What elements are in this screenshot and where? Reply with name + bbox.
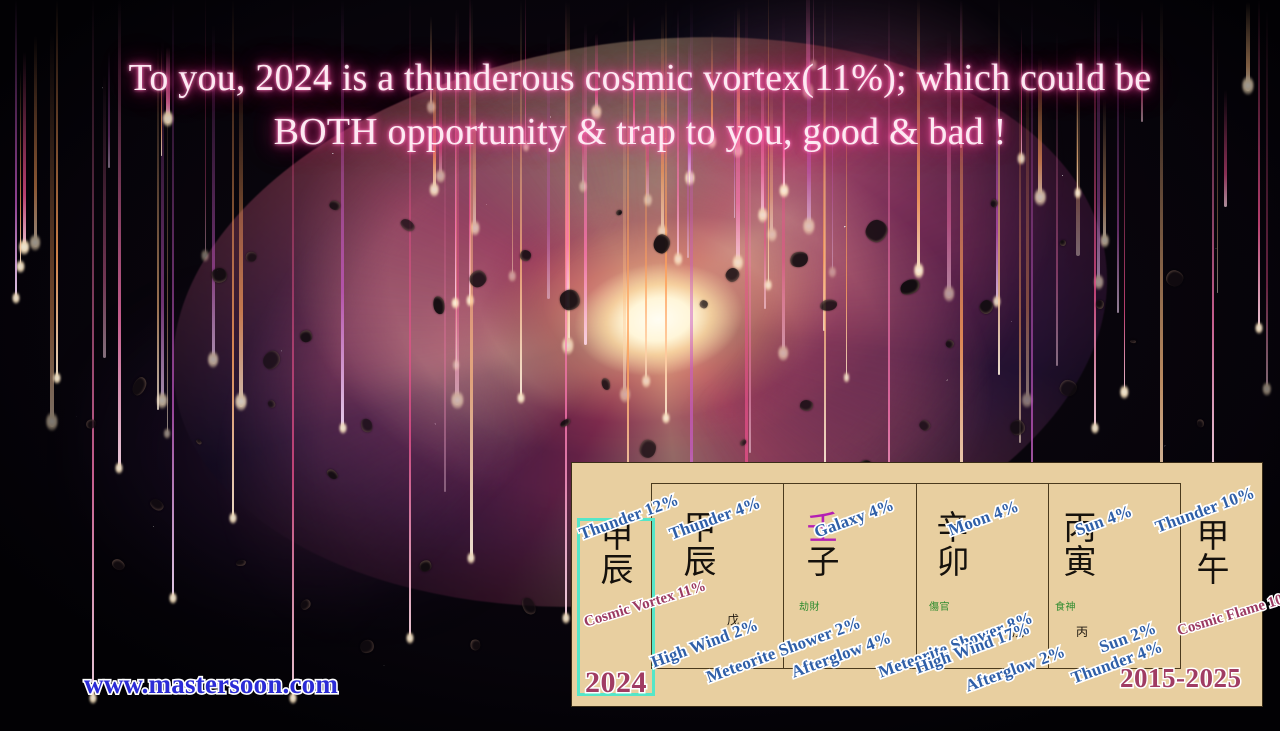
asteroid [1096, 300, 1105, 309]
asteroid [819, 299, 837, 312]
ten-god-4: 傷官 [929, 598, 950, 613]
asteroid [110, 557, 126, 572]
asteroid [519, 250, 531, 262]
earthly-branch: 辰 [664, 545, 736, 579]
asteroid [266, 399, 276, 409]
asteroid [918, 419, 933, 433]
poster-canvas: To you, 2024 is a thunderous cosmic vort… [0, 0, 1280, 731]
asteroid [600, 377, 611, 391]
highlight-year-label: 2024 [585, 666, 647, 700]
asteroid [788, 250, 809, 269]
asteroid [556, 286, 584, 314]
asteroid [559, 418, 571, 429]
asteroid [739, 438, 747, 446]
earthly-branch: 辰 [586, 553, 648, 587]
asteroid [299, 597, 313, 611]
asteroid [520, 595, 538, 616]
asteroid [469, 639, 481, 652]
website-watermark[interactable]: www.mastersoon.com [84, 669, 338, 700]
asteroid [130, 375, 150, 398]
asteroid [209, 265, 229, 285]
asteroid [1164, 268, 1185, 288]
asteroid [1060, 240, 1067, 247]
earthly-branch: 午 [1180, 553, 1246, 587]
asteroid [978, 298, 996, 316]
hidden-stem: 丙 [1076, 623, 1088, 640]
asteroid [360, 417, 374, 433]
asteroid [898, 277, 922, 298]
pillar-luck[interactable]: 甲 午 [1180, 519, 1246, 586]
asteroid [236, 559, 247, 566]
earthly-branch: 子 [787, 545, 859, 579]
asteroid [246, 252, 257, 262]
ten-god-3: 劫財 [799, 598, 820, 613]
asteroid [990, 199, 998, 208]
asteroid [863, 217, 890, 245]
asteroid [358, 638, 376, 655]
asteroid [639, 439, 657, 459]
asteroid [945, 339, 955, 349]
asteroid [1007, 417, 1028, 438]
bazi-chart-panel: 甲 辰 Cosmic Vortex 11% 2024 甲 辰 戊 壬 子 劫財 … [571, 462, 1263, 707]
asteroid [699, 299, 709, 308]
asteroid [398, 217, 416, 234]
asteroid [260, 348, 284, 373]
earthly-branch: 卯 [917, 545, 989, 579]
asteroid [466, 267, 489, 291]
asteroid [85, 419, 97, 430]
asteroid [615, 209, 623, 217]
asteroid [800, 400, 814, 412]
earthly-branch: 寅 [1044, 545, 1116, 579]
asteroid [328, 200, 340, 211]
asteroid [149, 497, 166, 513]
asteroid [417, 558, 433, 574]
ten-god-5: 食神 [1055, 598, 1076, 613]
asteroid [432, 296, 445, 315]
asteroid [298, 328, 315, 345]
asteroid [1059, 379, 1078, 398]
cosmic-flame-label: Cosmic Flame 10% [1175, 603, 1249, 640]
asteroid [1196, 419, 1204, 428]
headline-text: To you, 2024 is a thunderous cosmic vort… [0, 52, 1280, 160]
period-range-label: 2015-2025 [1120, 663, 1242, 694]
asteroid [195, 439, 202, 446]
asteroid [724, 266, 742, 284]
asteroid [652, 233, 672, 255]
asteroid [325, 467, 340, 481]
asteroid [1130, 340, 1136, 344]
